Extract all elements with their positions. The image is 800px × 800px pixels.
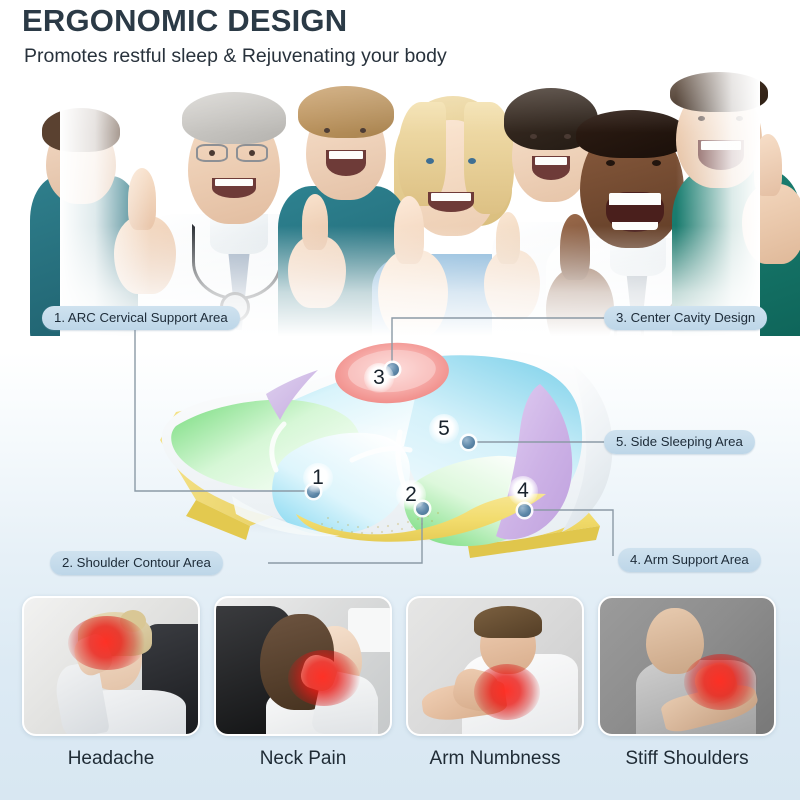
hero-photo-medical-team: [0, 46, 800, 336]
symptom-card-headache[interactable]: Headache: [22, 596, 200, 770]
symptom-photo-arm-numbness: [406, 596, 584, 736]
infographic-page: 1. ARC Cervical Support Area 2. Shoulder…: [0, 0, 800, 800]
page-title: ERGONOMIC DESIGN: [22, 0, 447, 38]
callout-label-4[interactable]: 4. Arm Support Area: [618, 548, 761, 572]
callout-label-3[interactable]: 3. Center Cavity Design: [604, 306, 767, 330]
callout-label-1[interactable]: 1. ARC Cervical Support Area: [42, 306, 240, 330]
callout-number-1: 1: [303, 463, 333, 493]
callout-number-3: 3: [364, 363, 394, 393]
symptom-caption-neck-pain: Neck Pain: [214, 748, 392, 770]
symptom-card-stiff-shoulders[interactable]: Stiff Shoulders: [598, 596, 776, 770]
symptom-caption-headache: Headache: [22, 748, 200, 770]
symptom-photo-headache: [22, 596, 200, 736]
callout-number-5: 5: [429, 414, 459, 444]
callout-dot-5[interactable]: [462, 436, 475, 449]
symptom-card-arm-numbness[interactable]: Arm Numbness: [406, 596, 584, 770]
callout-number-2: 2: [396, 480, 426, 510]
pain-highlight-icon: [474, 664, 540, 720]
symptom-card-row: Headache Neck Pain: [0, 596, 800, 800]
pain-highlight-icon: [684, 654, 758, 710]
symptom-photo-neck-pain: [214, 596, 392, 736]
pain-highlight-icon: [288, 650, 360, 706]
callout-label-5[interactable]: 5. Side Sleeping Area: [604, 430, 755, 454]
callout-number-4: 4: [508, 476, 538, 506]
callout-label-2[interactable]: 2. Shoulder Contour Area: [50, 551, 223, 575]
callout-dot-4[interactable]: [518, 504, 531, 517]
symptom-photo-stiff-shoulders: [598, 596, 776, 736]
symptom-caption-stiff-shoulders: Stiff Shoulders: [598, 748, 776, 770]
page-subtitle: Promotes restful sleep & Rejuvenating yo…: [22, 38, 447, 69]
symptom-caption-arm-numbness: Arm Numbness: [406, 748, 584, 770]
pain-highlight-icon: [68, 616, 146, 670]
symptom-card-neck-pain[interactable]: Neck Pain: [214, 596, 392, 770]
